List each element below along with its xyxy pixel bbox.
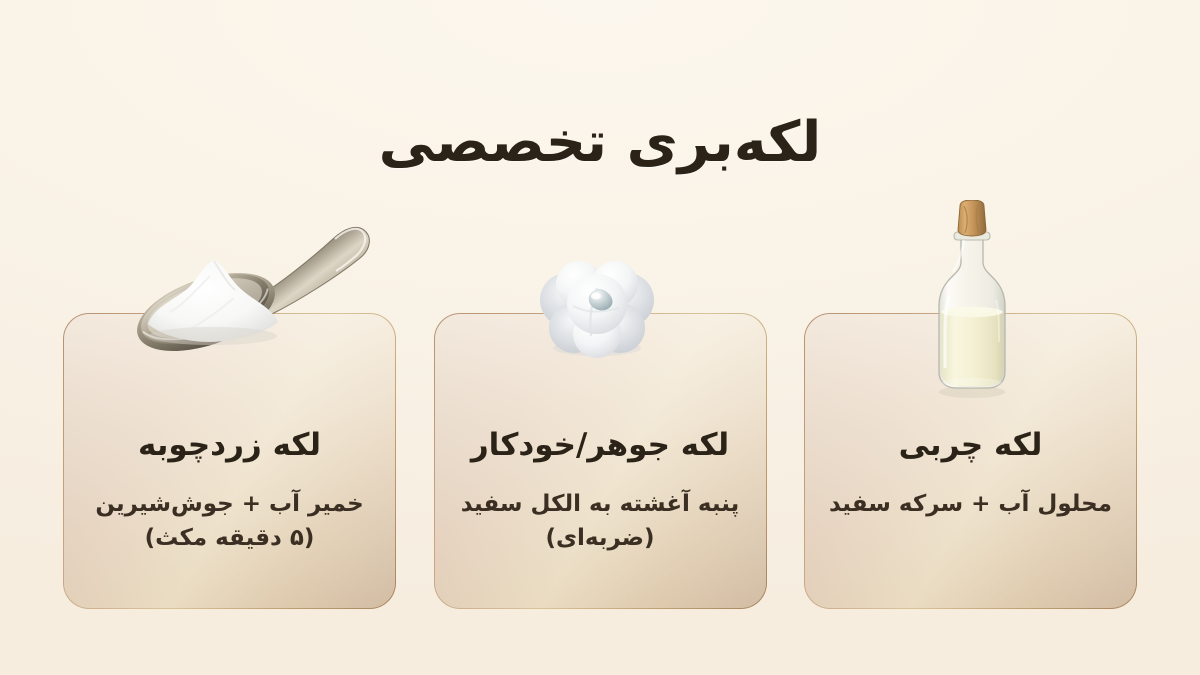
card-heading: لکه چربی (885, 426, 1057, 465)
card-grease-stain: لکه چربی محلول آب + سرکه سفید (804, 313, 1137, 609)
card-heading: لکه جوهر/خودکار (457, 426, 743, 465)
card-description: محلول آب + سرکه سفید (805, 487, 1136, 522)
card-turmeric-stain: لکه زردچوبه خمیر آب + جوش‌شیرین (۵ دقیقه… (63, 313, 396, 609)
card-heading: لکه زردچوبه (124, 426, 335, 465)
poster-canvas: لکه‌بری تخصصی لکه زردچوبه خمیر آب + جوش‌… (0, 0, 1200, 675)
page-title: لکه‌بری تخصصی (0, 110, 1200, 176)
card-description: خمیر آب + جوش‌شیرین (۵ دقیقه مکث) (71, 487, 387, 556)
card-row: لکه زردچوبه خمیر آب + جوش‌شیرین (۵ دقیقه… (63, 313, 1137, 609)
card-ink-pen-stain: لکه جوهر/خودکار پنبه آغشته به الکل سفید … (434, 313, 767, 609)
card-description: پنبه آغشته به الکل سفید (ضربه‌ای) (437, 487, 764, 556)
